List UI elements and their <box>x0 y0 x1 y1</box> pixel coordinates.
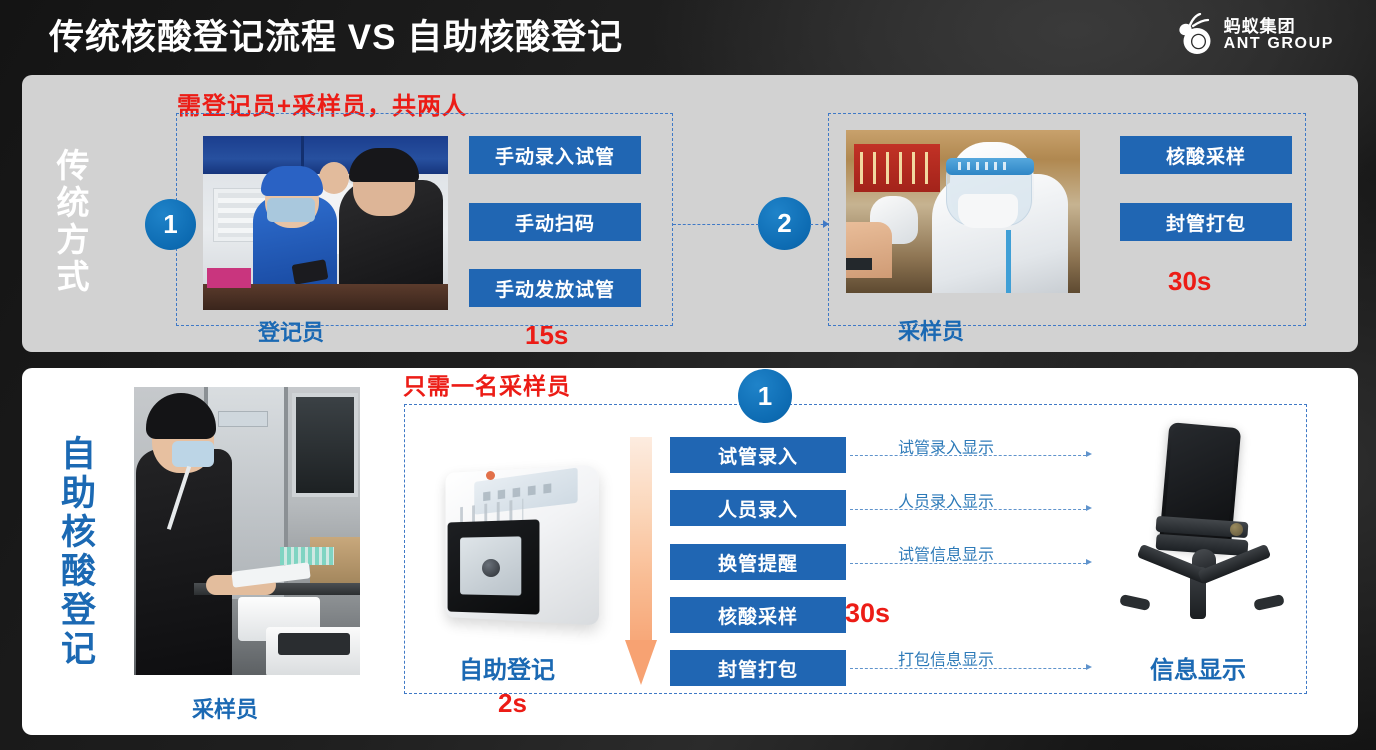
action-self-nucleic-sampling[interactable]: 核酸采样 <box>670 597 846 633</box>
display-label-person-entry: 人员录入显示 <box>898 488 994 512</box>
brand-logo-text: 蚂蚁集团 ANT GROUP <box>1224 18 1334 52</box>
action-manual-tube-entry[interactable]: 手动录入试管 <box>469 136 641 174</box>
page-title: 传统核酸登记流程 VS 自助核酸登记 <box>49 9 623 60</box>
display-arrowhead-1-icon <box>1086 451 1092 457</box>
action-manual-tube-handout[interactable]: 手动发放试管 <box>469 269 641 307</box>
self-registration-device <box>424 455 614 635</box>
connector-arrowhead-icon <box>823 220 829 228</box>
registrar-caption: 登记员 <box>258 315 324 347</box>
brand-name-en: ANT GROUP <box>1224 36 1334 52</box>
flow-down-arrow-icon <box>625 437 657 685</box>
step-number-2: 2 <box>758 197 811 250</box>
action-nucleic-sampling[interactable]: 核酸采样 <box>1120 136 1292 174</box>
display-label-tube-info: 试管信息显示 <box>898 541 994 565</box>
traditional-step2-time: 30s <box>1168 266 1211 297</box>
self-service-side-label: 自助核酸登记 <box>50 435 101 669</box>
self-service-sampling-time: 30s <box>845 598 890 629</box>
display-label-pack-info: 打包信息显示 <box>898 646 994 670</box>
step-number-1: 1 <box>145 199 196 250</box>
phone-tripod-display <box>1108 425 1298 635</box>
traditional-side-label: 传统方式 <box>46 148 94 296</box>
brand-name-cn: 蚂蚁集团 <box>1224 18 1334 35</box>
traditional-step1-time: 15s <box>525 320 568 351</box>
sampler-photo <box>846 130 1080 293</box>
display-label-tube-entry: 试管录入显示 <box>898 434 994 458</box>
self-service-photo-caption: 采样员 <box>192 692 258 724</box>
action-tube-entry[interactable]: 试管录入 <box>670 437 846 473</box>
action-seal-and-pack[interactable]: 封管打包 <box>1120 203 1292 241</box>
ant-logo-icon <box>1175 13 1215 57</box>
self-service-step-number: 1 <box>738 369 792 423</box>
page-header: 传统核酸登记流程 VS 自助核酸登记 蚂蚁集团 ANT GROUP <box>0 0 1376 72</box>
step1-to-step2-connector <box>673 224 759 225</box>
self-registration-time: 2s <box>498 688 527 719</box>
action-tube-change-reminder[interactable]: 换管提醒 <box>670 544 846 580</box>
action-self-seal-and-pack[interactable]: 封管打包 <box>670 650 846 686</box>
display-arrowhead-3-icon <box>1086 559 1092 565</box>
info-display-caption: 信息显示 <box>1150 650 1246 685</box>
brand-logo: 蚂蚁集团 ANT GROUP <box>1175 11 1334 59</box>
registrar-photo <box>203 136 448 310</box>
self-service-staff-note: 只需一名采样员 <box>403 367 571 401</box>
display-arrowhead-2-icon <box>1086 505 1092 511</box>
self-service-photo <box>134 387 360 675</box>
sampler-caption: 采样员 <box>898 314 964 346</box>
display-arrowhead-4-icon <box>1086 664 1092 670</box>
self-registration-label: 自助登记 <box>459 650 555 685</box>
action-person-entry[interactable]: 人员录入 <box>670 490 846 526</box>
action-manual-scan[interactable]: 手动扫码 <box>469 203 641 241</box>
